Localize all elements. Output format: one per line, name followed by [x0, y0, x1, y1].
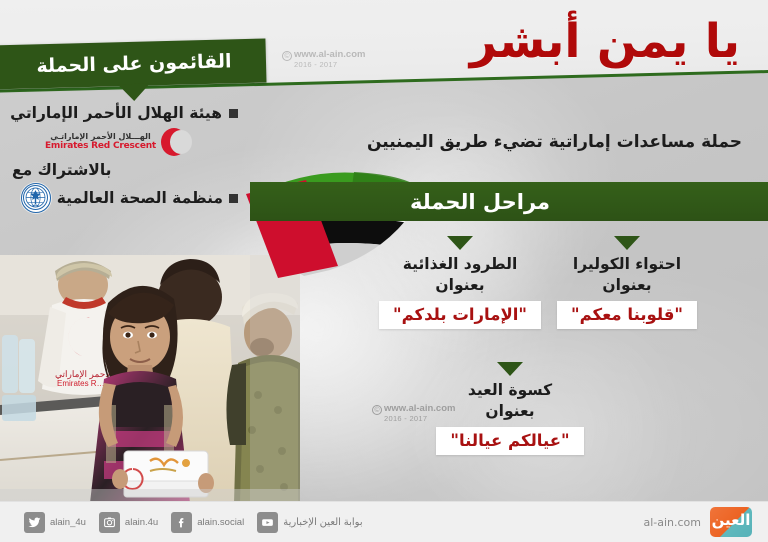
social-link-facebook[interactable]: alain.social — [171, 512, 244, 533]
social-link-instagram[interactable]: alain.4u — [99, 512, 158, 533]
organizers-list: هيئة الهلال الأحمر الإماراتي الهـــلال ا… — [0, 104, 252, 213]
square-bullet-icon — [229, 109, 238, 118]
organizers-tag-arrow-icon — [118, 84, 150, 102]
organizer-label-red-crescent: هيئة الهلال الأحمر الإماراتي — [10, 104, 222, 122]
stage-slogan: "الإمارات بلدكم" — [379, 301, 541, 329]
instagram-icon[interactable] — [99, 512, 120, 533]
stage-subtitle: بعنوان — [360, 275, 560, 296]
stage-slogan: "قلوبنا معكم" — [557, 301, 697, 329]
infographic-poster: الأحمر الإماراتي Emirates R… — [0, 0, 768, 542]
down-arrow-icon — [447, 236, 473, 250]
social-link-twitter[interactable]: alain_4u — [24, 512, 86, 533]
copyright-icon: © — [282, 51, 292, 61]
twitter-icon[interactable] — [24, 512, 45, 533]
stage-title: كسوة العيد — [395, 380, 625, 401]
copyright-icon: © — [372, 405, 382, 415]
stage-slogan: "عيالكم عيالنا" — [436, 427, 583, 455]
stage-eid-clothing: كسوة العيد بعنوان "عيالكم عيالنا" — [395, 362, 625, 455]
social-links: alain_4u alain.4u — [0, 512, 363, 533]
site-url: al-ain.com — [643, 516, 701, 529]
social-handle: alain.social — [197, 517, 244, 528]
stage-subtitle: بعنوان — [395, 401, 625, 422]
social-handle: alain.4u — [125, 517, 158, 528]
social-link-youtube[interactable]: بوابة العين الإخبارية — [257, 512, 362, 533]
al-ain-logo[interactable]: العين — [710, 507, 752, 537]
watermark-years: 2016 - 2017 — [294, 61, 365, 69]
aid-distribution-photo: الأحمر الإماراتي Emirates R… — [0, 255, 300, 503]
stages-bar: مراحل الحملة — [250, 182, 768, 221]
down-arrow-icon — [614, 236, 640, 250]
organizer-label-who: منظمة الصحة العالمية — [57, 189, 223, 207]
emirates-red-crescent-logo: الهـــلال الأحمر الإماراتـي Emirates Red… — [0, 128, 252, 156]
subtitle: حملة مساعدات إماراتية تضيء طريق اليمنيين — [367, 132, 742, 152]
red-crescent-icon — [161, 128, 187, 156]
list-item: هيئة الهلال الأحمر الإماراتي — [0, 104, 252, 122]
partnership-note: بالاشتراك مع — [0, 161, 252, 179]
social-handle: alain_4u — [50, 517, 86, 528]
red-crescent-arabic-name: الهـــلال الأحمر الإماراتـي — [45, 132, 156, 141]
list-item: منظمة الصحة العالمية — [0, 183, 252, 213]
stage-title: الطرود الغذائية — [360, 254, 560, 275]
watermark-top: © www.al-ain.com 2016 - 2017 — [282, 50, 365, 69]
social-handle: بوابة العين الإخبارية — [283, 517, 362, 528]
svg-text:Emirates R…: Emirates R… — [57, 379, 105, 388]
down-arrow-icon — [497, 362, 523, 376]
red-crescent-english-name: Emirates Red Crescent — [45, 141, 156, 151]
facebook-icon[interactable] — [171, 512, 192, 533]
footer-bar: alain_4u alain.4u — [0, 501, 768, 542]
footer-brand[interactable]: al-ain.com العين — [643, 507, 768, 537]
youtube-icon[interactable] — [257, 512, 278, 533]
who-logo-icon — [21, 183, 51, 213]
organizers-tag-label: القائمون على الحملة — [22, 50, 232, 77]
stages-bar-label: مراحل الحملة — [410, 190, 550, 214]
stage-food-parcels: الطرود الغذائية بعنوان "الإمارات بلدكم" — [360, 236, 560, 329]
al-ain-logo-text: العين — [712, 513, 751, 531]
organizers-tag: القائمون على الحملة — [0, 38, 267, 89]
page-title: يا يمن أبشر — [470, 18, 740, 65]
